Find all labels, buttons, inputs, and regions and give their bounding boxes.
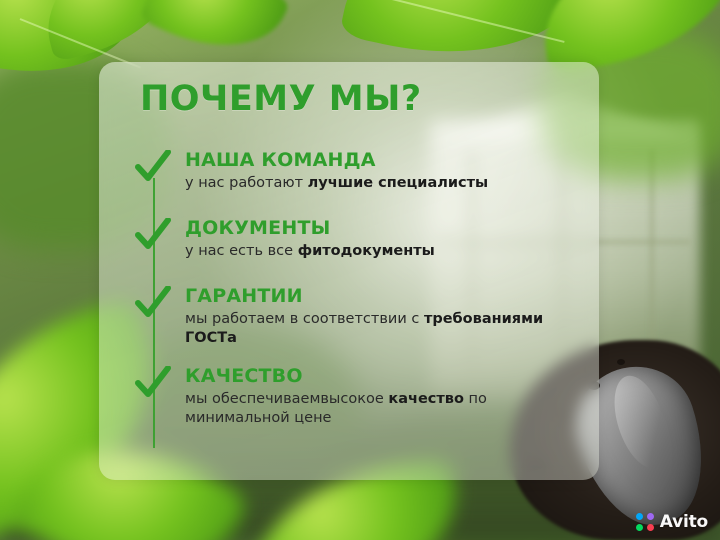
check-mark-icon (135, 366, 171, 400)
list-item: ДОКУМЕНТЫ у нас есть все фитодокументы (135, 218, 575, 268)
check-mark-icon (135, 218, 171, 252)
desc-plain: у нас есть все (185, 243, 298, 259)
desc-bold: лучшие специалисты (308, 175, 489, 191)
check-mark-icon (135, 150, 171, 184)
desc-plain: у нас работают (185, 175, 308, 191)
list-item-title: НАША КОМАНДА (185, 150, 575, 171)
page-title: ПОЧЕМУ МЫ? (140, 79, 422, 119)
list-item-title: ДОКУМЕНТЫ (185, 218, 575, 239)
list-item-title: ГАРАНТИИ (185, 286, 575, 307)
benefits-list: НАША КОМАНДА у нас работают лучшие специ… (135, 150, 575, 428)
desc-bold: качество (388, 391, 464, 407)
banner-image: ПОЧЕМУ МЫ? НАША КОМАНДА у нас работают л… (0, 0, 720, 540)
list-item-desc: у нас есть все фитодокументы (185, 242, 575, 261)
desc-plain: мы работаем в соответствии с (185, 311, 424, 327)
soil-speck (617, 359, 625, 365)
avito-dots-icon (636, 513, 654, 531)
avito-wordmark: Avito (660, 512, 708, 532)
list-item: НАША КОМАНДА у нас работают лучшие специ… (135, 150, 575, 200)
desc-plain: мы обеспечиваемвысокое (185, 391, 388, 407)
list-item-title: КАЧЕСТВО (185, 366, 575, 387)
desc-bold: фитодокументы (298, 243, 435, 259)
list-item-desc: мы работаем в соответствии с требованиям… (185, 310, 575, 348)
check-mark-icon (135, 286, 171, 320)
avito-watermark: Avito (636, 512, 708, 532)
list-item-desc: у нас работают лучшие специалисты (185, 174, 575, 193)
why-us-card: ПОЧЕМУ МЫ? НАША КОМАНДА у нас работают л… (99, 62, 599, 480)
list-item: ГАРАНТИИ мы работаем в соответствии с тр… (135, 286, 575, 348)
list-item-desc: мы обеспечиваемвысокое качество по миним… (185, 390, 575, 428)
list-item: КАЧЕСТВО мы обеспечиваемвысокое качество… (135, 366, 575, 428)
